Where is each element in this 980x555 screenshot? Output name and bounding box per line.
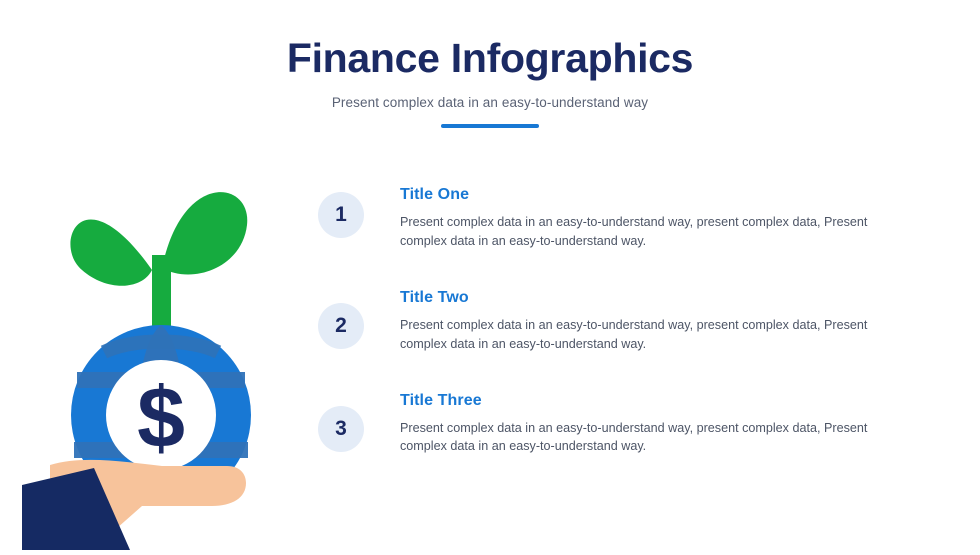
coin-dollar-symbol: $ [137,370,185,466]
step-text-1: Present complex data in an easy-to-under… [400,213,900,251]
finance-illustration: $ [22,150,322,550]
accent-divider [441,124,539,128]
dollar-coin-icon: $ [106,360,216,470]
list-item[interactable]: 2 Title Two Present complex data in an e… [318,289,918,354]
step-number-badge-1: 1 [318,192,364,238]
step-number-badge-3: 3 [318,406,364,452]
list-item[interactable]: 1 Title One Present complex data in an e… [318,186,918,251]
step-title-3: Title Three [400,392,900,410]
slide-canvas: Finance Infographics Present complex dat… [0,0,980,551]
list-item[interactable]: 3 Title Three Present complex data in an… [318,392,918,457]
step-body-3: Title Three Present complex data in an e… [400,392,900,457]
slide-header: Finance Infographics Present complex dat… [0,36,980,128]
steps-list: 1 Title One Present complex data in an e… [318,186,918,456]
step-title-2: Title Two [400,289,900,307]
step-body-1: Title One Present complex data in an eas… [400,186,900,251]
step-title-1: Title One [400,186,900,204]
page-subtitle: Present complex data in an easy-to-under… [0,95,980,110]
page-title: Finance Infographics [0,36,980,81]
step-text-2: Present complex data in an easy-to-under… [400,316,900,354]
step-number-badge-2: 2 [318,303,364,349]
step-text-3: Present complex data in an easy-to-under… [400,419,900,457]
plant-leaf-icon [70,192,247,345]
step-body-2: Title Two Present complex data in an eas… [400,289,900,354]
